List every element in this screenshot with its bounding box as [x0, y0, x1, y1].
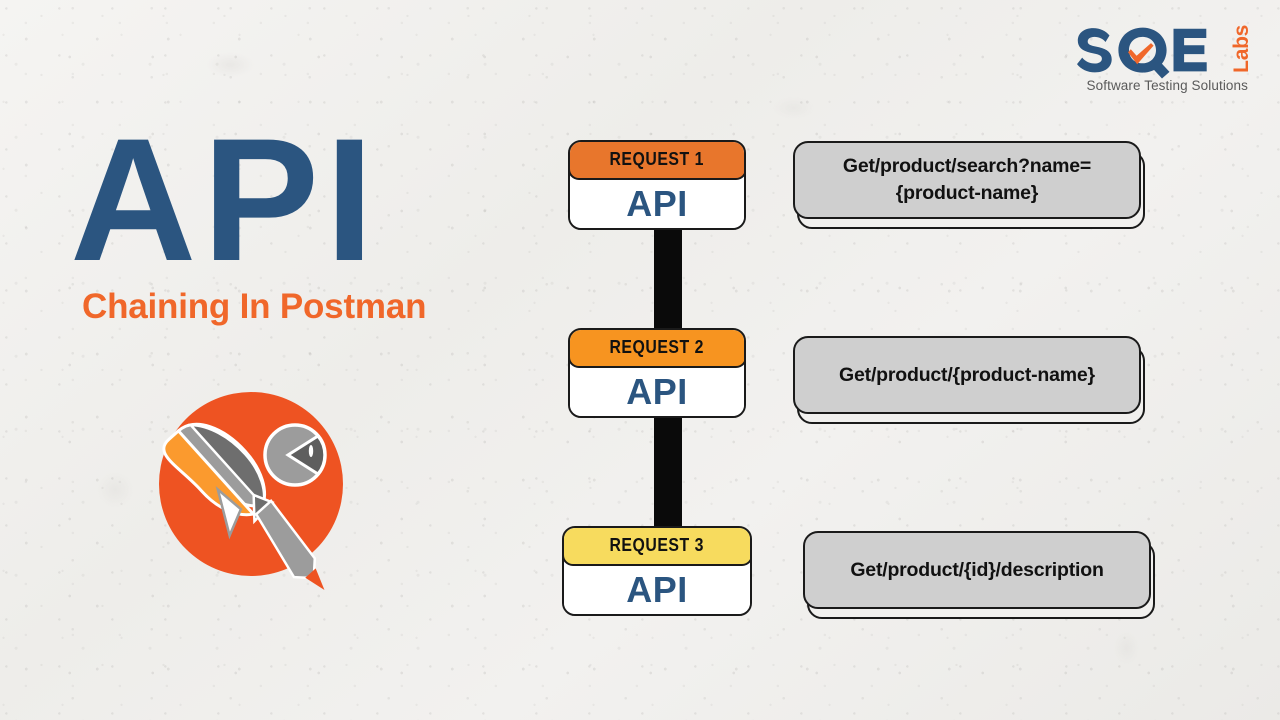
- endpoint-box-3-surface: Get/product/{id}/description: [803, 531, 1151, 609]
- request-card-1-title: REQUEST 1: [610, 149, 705, 170]
- endpoint-box-1-line2: {product-name}: [843, 180, 1091, 207]
- request-flow: REQUEST 1 API REQUEST 2 API REQUEST 3 AP…: [562, 140, 762, 625]
- endpoint-box-2[interactable]: Get/product/{product-name}: [793, 336, 1141, 414]
- request-card-2-api-label: API: [626, 371, 688, 413]
- logo-labs-wrap: Labs: [1231, 25, 1252, 77]
- endpoint-box-3-line1: Get/product/{id}/description: [850, 557, 1103, 584]
- endpoint-box-1-line1: Get/product/search?name=: [843, 153, 1091, 180]
- endpoint-box-3[interactable]: Get/product/{id}/description: [803, 531, 1151, 609]
- request-card-2-header: REQUEST 2: [568, 328, 746, 368]
- flow-connector-2: [654, 412, 682, 530]
- request-card-1-api-label: API: [626, 183, 688, 225]
- endpoint-box-3-text: Get/product/{id}/description: [850, 557, 1103, 584]
- request-card-1[interactable]: REQUEST 1 API: [568, 140, 746, 230]
- logo-tagline: Software Testing Solutions: [1062, 78, 1252, 93]
- request-card-3-body: API: [564, 566, 750, 614]
- request-card-2[interactable]: REQUEST 2 API: [568, 328, 746, 418]
- endpoint-box-1[interactable]: Get/product/search?name= {product-name}: [793, 141, 1141, 219]
- sqe-labs-logo: Labs Software Testing Solutions: [1062, 22, 1252, 104]
- request-card-2-body: API: [570, 368, 744, 416]
- request-card-1-header: REQUEST 1: [568, 140, 746, 180]
- sqe-wordmark-icon: [1077, 22, 1229, 80]
- request-card-3-api-label: API: [626, 569, 688, 611]
- request-card-3-header: REQUEST 3: [562, 526, 752, 566]
- request-card-3[interactable]: REQUEST 3 API: [562, 526, 752, 616]
- page-subtitle: Chaining In Postman: [82, 287, 500, 327]
- logo-labs-text: Labs: [1231, 25, 1252, 73]
- logo-mark: Labs: [1062, 22, 1252, 80]
- request-card-2-title: REQUEST 2: [610, 337, 705, 358]
- endpoint-box-2-text: Get/product/{product-name}: [839, 362, 1095, 389]
- request-card-3-title: REQUEST 3: [610, 535, 705, 556]
- endpoint-box-1-text: Get/product/search?name= {product-name}: [843, 153, 1091, 207]
- postman-rocket-icon: [148, 392, 354, 618]
- hero-block: API Chaining In Postman: [70, 120, 500, 327]
- request-card-1-body: API: [570, 180, 744, 228]
- endpoint-box-2-surface: Get/product/{product-name}: [793, 336, 1141, 414]
- flow-connector-1: [654, 224, 682, 342]
- endpoint-box-1-surface: Get/product/search?name= {product-name}: [793, 141, 1141, 219]
- postman-rocket-svg: [148, 392, 354, 618]
- page-title: API: [70, 120, 500, 281]
- endpoint-box-2-line1: Get/product/{product-name}: [839, 362, 1095, 389]
